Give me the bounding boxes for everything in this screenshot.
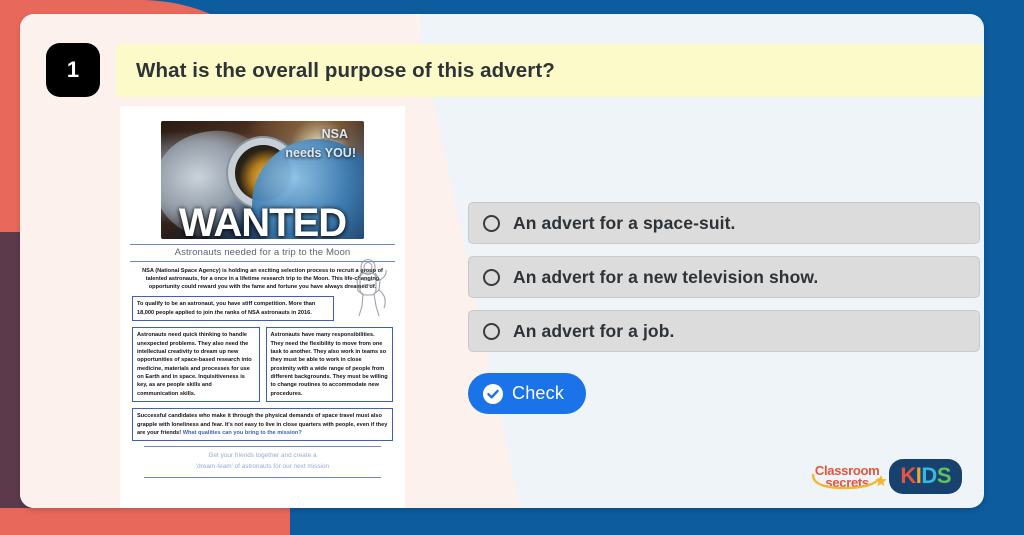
poster-wanted-headline: WANTED bbox=[161, 203, 364, 239]
advert-column-right: Astronauts have many responsibilities. T… bbox=[266, 327, 394, 402]
check-button-label: Check bbox=[512, 383, 564, 404]
check-circle-icon bbox=[483, 384, 503, 404]
advert-worksheet[interactable]: NSA needs YOU! WANTED Astronauts needed … bbox=[120, 106, 405, 508]
answer-option-2[interactable]: An advert for a new television show. bbox=[468, 256, 980, 298]
decorative-bottom-strip bbox=[0, 508, 290, 535]
advert-footer-line-1: Get your friends together and create a bbox=[144, 451, 381, 461]
kids-letter-d: D bbox=[921, 463, 936, 489]
advert-column-left: Astronauts need quick thinking to handle… bbox=[132, 327, 260, 402]
answer-option-label: An advert for a new television show. bbox=[513, 267, 818, 288]
radio-button-icon[interactable] bbox=[483, 323, 500, 340]
advert-success-box: Successful candidates who make it throug… bbox=[132, 408, 393, 441]
wanted-poster-image: NSA needs YOU! WANTED bbox=[161, 121, 364, 239]
question-text: What is the overall purpose of this adve… bbox=[136, 59, 555, 83]
answer-option-label: An advert for a space-suit. bbox=[513, 213, 735, 234]
classroom-secrets-logo: Classroom secrets bbox=[815, 464, 880, 489]
answer-options-list: An advert for a space-suit. An advert fo… bbox=[468, 202, 980, 364]
astronaut-line-art-icon bbox=[347, 258, 391, 320]
question-banner: What is the overall purpose of this adve… bbox=[116, 44, 984, 97]
question-card: 1 What is the overall purpose of this ad… bbox=[20, 14, 984, 508]
answer-option-3[interactable]: An advert for a job. bbox=[468, 310, 980, 352]
question-number: 1 bbox=[67, 57, 79, 83]
branding-logos: Classroom secrets KIDS bbox=[815, 459, 962, 494]
advert-footer-rule: Get your friends together and create a '… bbox=[144, 446, 381, 478]
kids-letter-s: S bbox=[937, 463, 951, 489]
radio-button-icon[interactable] bbox=[483, 215, 500, 232]
kids-logo: KIDS bbox=[889, 459, 962, 494]
advert-footer-line-2: 'dream-team' of astronauts for our next … bbox=[144, 462, 381, 472]
check-button[interactable]: Check bbox=[468, 373, 586, 414]
poster-needs-you-text: needs YOU! bbox=[285, 146, 356, 160]
swoosh-star-icon bbox=[811, 469, 899, 491]
radio-button-icon[interactable] bbox=[483, 269, 500, 286]
kids-letter-k: K bbox=[900, 463, 915, 489]
advert-qualify-box: To qualify to be an astronaut, you have … bbox=[132, 296, 334, 321]
advert-two-columns: Astronauts need quick thinking to handle… bbox=[132, 327, 393, 402]
answer-option-label: An advert for a job. bbox=[513, 321, 674, 342]
answer-option-1[interactable]: An advert for a space-suit. bbox=[468, 202, 980, 244]
advert-subheading: Astronauts needed for a trip to the Moon bbox=[130, 247, 395, 258]
poster-nsa-text: NSA bbox=[322, 127, 348, 141]
advert-success-question: What qualities can you bring to the miss… bbox=[183, 430, 302, 436]
question-number-badge: 1 bbox=[46, 43, 100, 97]
